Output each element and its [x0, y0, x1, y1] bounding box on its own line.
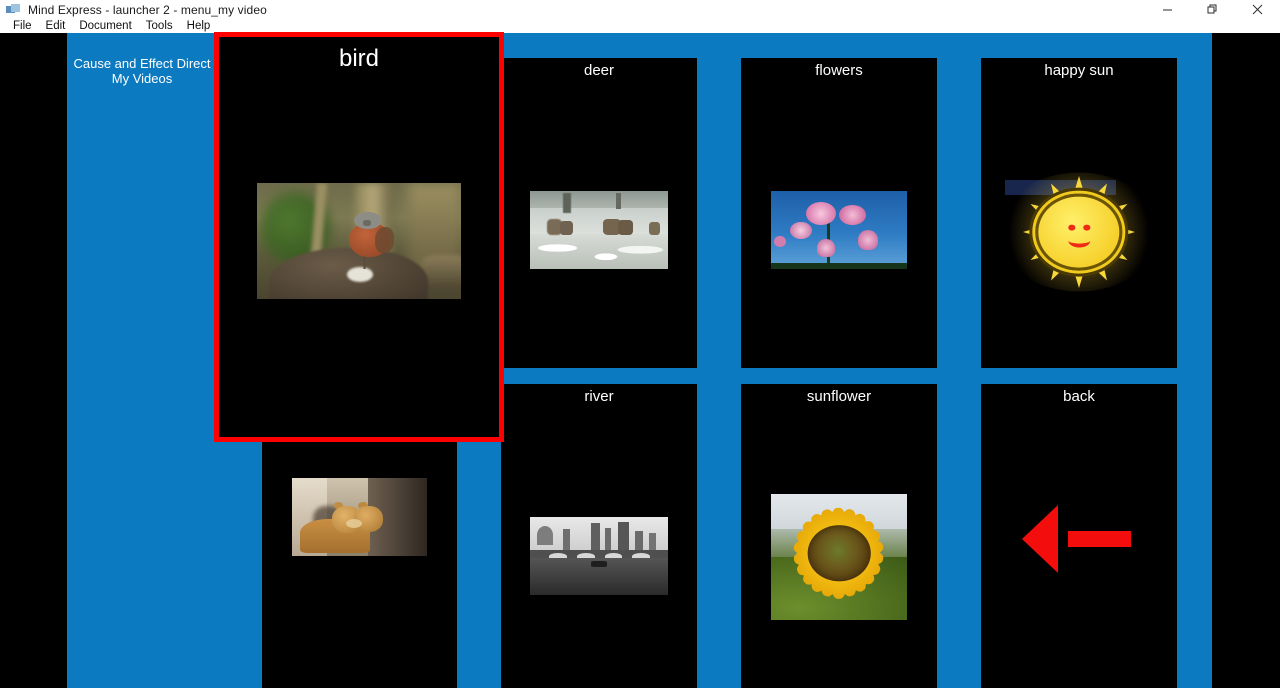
happy-sun-graphic	[995, 170, 1163, 294]
menu-item-document[interactable]: Document	[72, 19, 138, 33]
cell-back[interactable]: back	[981, 384, 1177, 688]
cell-label-sunflower: sunflower	[741, 388, 937, 406]
cell-lions[interactable]	[262, 418, 457, 688]
cell-label-river: river	[501, 388, 697, 406]
board-title-line2: My Videos	[67, 71, 217, 86]
cell-sunflower[interactable]: sunflower	[741, 384, 937, 688]
close-icon[interactable]	[1235, 0, 1280, 19]
page-area: Cause and Effect Direct My Videos deer	[0, 33, 1280, 688]
cell-bird[interactable]: bird	[214, 32, 504, 442]
title-bar: Mind Express - launcher 2 - menu_my vide…	[0, 0, 1280, 19]
application-window: Mind Express - launcher 2 - menu_my vide…	[0, 0, 1280, 688]
river-photo	[530, 517, 668, 595]
cell-label-back: back	[981, 388, 1177, 406]
menu-item-file[interactable]: File	[6, 19, 39, 33]
sunflower-photo	[771, 494, 907, 620]
cell-label-flowers: flowers	[741, 62, 937, 80]
cell-label-bird: bird	[219, 45, 499, 73]
restore-icon[interactable]	[1190, 0, 1235, 19]
cell-label-deer: deer	[501, 62, 697, 80]
menu-item-edit[interactable]: Edit	[39, 19, 73, 33]
cell-deer[interactable]: deer	[501, 58, 697, 368]
board-title: Cause and Effect Direct My Videos	[67, 56, 217, 86]
deer-photo	[530, 191, 668, 269]
board-title-line1: Cause and Effect Direct	[67, 56, 217, 71]
flowers-photo	[771, 191, 907, 269]
menu-item-tools[interactable]: Tools	[139, 19, 180, 33]
back-arrow-graphic	[1011, 504, 1147, 574]
window-title: Mind Express - launcher 2 - menu_my vide…	[28, 3, 267, 17]
bird-photo	[257, 183, 461, 299]
app-icon	[6, 3, 22, 17]
menu-item-help[interactable]: Help	[180, 19, 218, 33]
cell-label-happy-sun: happy sun	[981, 62, 1177, 80]
minimize-icon[interactable]	[1145, 0, 1190, 19]
menu-bar: File Edit Document Tools Help	[0, 19, 1280, 33]
communication-board: Cause and Effect Direct My Videos deer	[67, 33, 1212, 688]
cell-happy-sun[interactable]: happy sun	[981, 58, 1177, 368]
window-controls	[1145, 0, 1280, 19]
lions-photo	[292, 478, 428, 556]
cell-flowers[interactable]: flowers	[741, 58, 937, 368]
cell-river[interactable]: river	[501, 384, 697, 688]
